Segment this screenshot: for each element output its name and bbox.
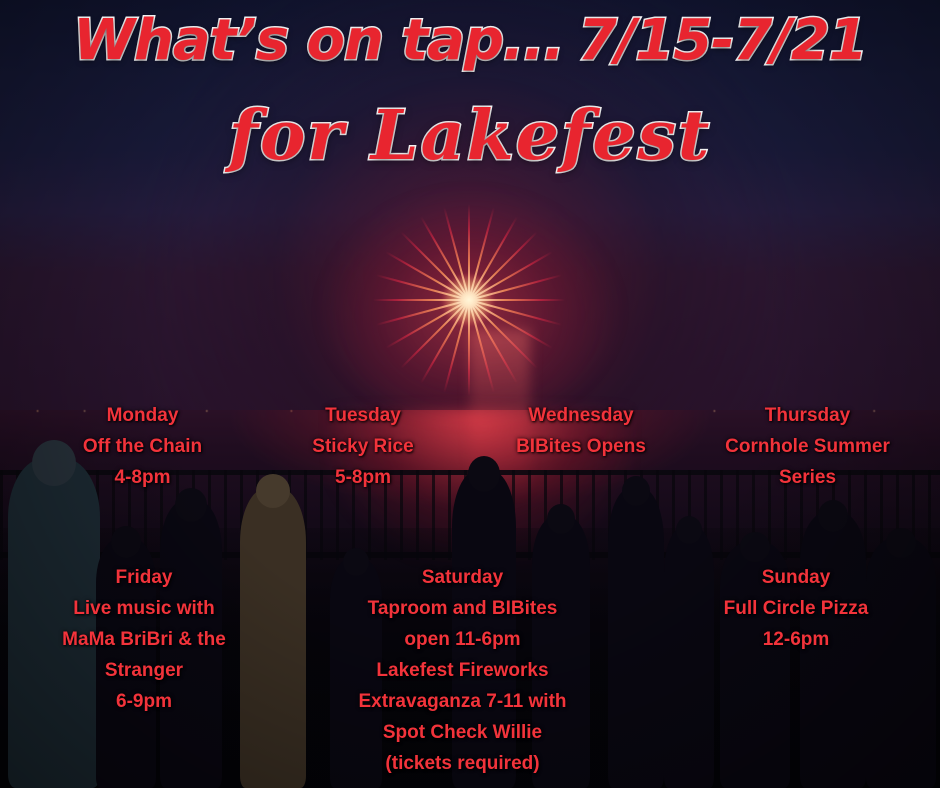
day-detail-line: 12-6pm [672, 624, 920, 655]
day-detail-line: MaMa BriBri & the [28, 624, 260, 655]
day-detail-line: 4-8pm [30, 462, 255, 493]
day-detail-line: BIBites Opens [470, 431, 692, 462]
schedule-day-tuesday: Tuesday Sticky Rice 5-8pm [252, 400, 474, 493]
day-label: Saturday [300, 562, 625, 593]
day-detail-line: Sticky Rice [252, 431, 474, 462]
day-detail-line: Stranger [28, 655, 260, 686]
day-detail-line: Lakefest Fireworks [300, 655, 625, 686]
day-label: Wednesday [470, 400, 692, 431]
day-detail-line: (tickets required) [300, 748, 625, 779]
day-label: Friday [28, 562, 260, 593]
schedule-day-saturday: Saturday Taproom and BIBites open 11-6pm… [300, 562, 625, 779]
day-detail-line: Live music with [28, 593, 260, 624]
headline-subtitle: for Lakefest [0, 96, 940, 176]
weekly-schedule: Monday Off the Chain 4-8pm Tuesday Stick… [0, 400, 940, 788]
day-detail-line: Full Circle Pizza [672, 593, 920, 624]
headline: What’s on tap...7/15-7/21 [0, 8, 940, 73]
day-detail-line: Spot Check Willie [300, 717, 625, 748]
day-label: Tuesday [252, 400, 474, 431]
day-detail-line: Cornhole Summer [690, 431, 925, 462]
day-label: Monday [30, 400, 255, 431]
poster: What’s on tap...7/15-7/21 for Lakefest M… [0, 0, 940, 788]
day-detail-line: Series [690, 462, 925, 493]
day-detail-line: Extravaganza 7-11 with [300, 686, 625, 717]
schedule-day-sunday: Sunday Full Circle Pizza 12-6pm [672, 562, 920, 655]
day-detail-line: 6-9pm [28, 686, 260, 717]
day-detail-line: Off the Chain [30, 431, 255, 462]
headline-dates: 7/15-7/21 [578, 8, 867, 73]
day-label: Sunday [672, 562, 920, 593]
schedule-day-thursday: Thursday Cornhole Summer Series [690, 400, 925, 493]
schedule-day-monday: Monday Off the Chain 4-8pm [30, 400, 255, 493]
headline-title: What’s on tap... [73, 8, 564, 73]
day-label: Thursday [690, 400, 925, 431]
text-overlay: What’s on tap...7/15-7/21 for Lakefest M… [0, 0, 940, 788]
day-detail-line: Taproom and BIBites [300, 593, 625, 624]
day-detail-line: open 11-6pm [300, 624, 625, 655]
schedule-day-wednesday: Wednesday BIBites Opens [470, 400, 692, 462]
day-detail-line: 5-8pm [252, 462, 474, 493]
schedule-day-friday: Friday Live music with MaMa BriBri & the… [28, 562, 260, 717]
